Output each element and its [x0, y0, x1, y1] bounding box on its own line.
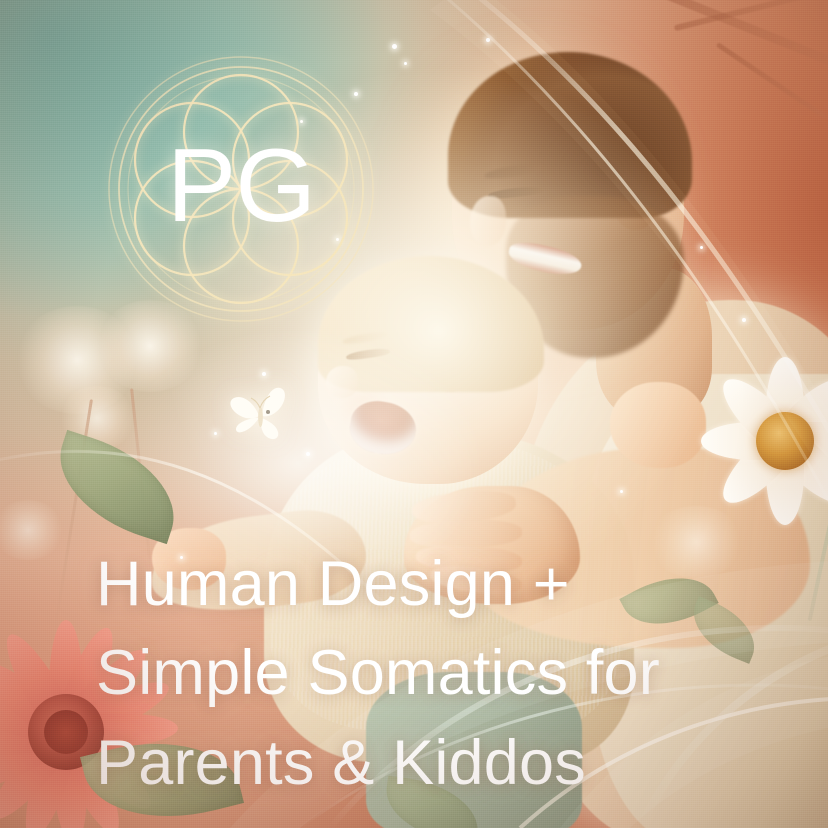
headline-block: Human Design + Simple Somatics for Paren…: [96, 540, 736, 808]
headline-line-1: Human Design +: [96, 540, 736, 629]
logo-monogram: PG: [104, 52, 378, 326]
headline-line-2: Simple Somatics for: [96, 629, 736, 718]
promo-image-canvas: PG Human Design + Simple Somatics for Pa…: [0, 0, 828, 828]
sparkle: [620, 490, 623, 493]
butterfly-icon: [222, 382, 298, 448]
sparkle: [262, 372, 266, 376]
sparkle: [700, 246, 703, 249]
headline-line-3: Parents & Kiddos: [96, 719, 736, 808]
sparkle: [392, 44, 397, 49]
sparkle: [486, 38, 490, 42]
sparkle: [306, 452, 310, 456]
sparkle: [742, 318, 746, 322]
sparkle: [214, 432, 217, 435]
sparkle: [404, 62, 407, 65]
pg-logo: PG: [104, 52, 378, 326]
